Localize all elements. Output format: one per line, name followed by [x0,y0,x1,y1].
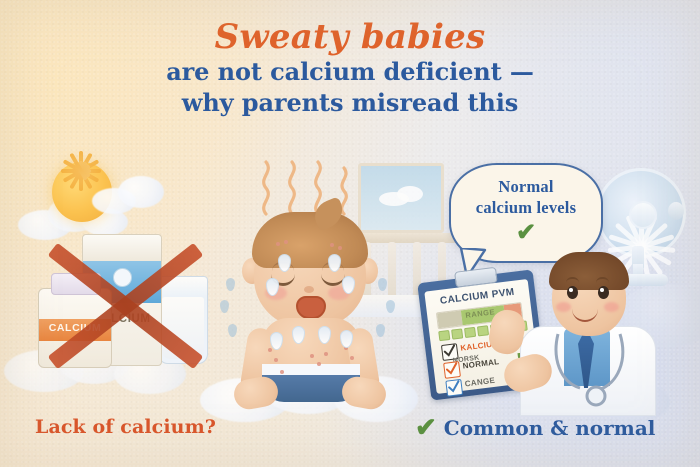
headline-line-1: Sweaty babies [0,18,700,56]
stethoscope-icon [546,332,638,410]
fan-knob [668,202,684,220]
headline-block: Sweaty babies are not calcium deficient … [0,18,700,118]
doctor-eye-right [598,286,609,299]
bubble-check-icon: ✔ [451,221,601,245]
illustration-canvas: CALCIUM CALCIUM [0,0,700,467]
caption-right: ✔ Common & normal [415,415,655,441]
bubble-line-2: calcium levels [451,197,601,218]
headline-line-3: why parents misread this [0,87,700,118]
calcium-products-group: CALCIUM CALCIUM [30,228,220,383]
sweating-baby [218,196,404,411]
headline-line-2: are not calcium deficient — [0,56,700,87]
clipboard-row: NORMAL [443,363,445,379]
caption-right-label: Common & normal [444,416,656,440]
fan-hub [629,201,657,229]
clipboard-row: KALCIUM [441,345,443,361]
clipboard-row-label: CANGE [464,376,495,389]
smiling-doctor [512,246,662,411]
baby-hair [252,212,368,268]
bubble-line-1: Normal [451,176,601,197]
caption-left: Lack of calcium? [35,416,216,438]
doctor-eye-left [567,286,578,299]
baby-open-mouth [296,296,326,319]
doctor-hair [549,252,629,290]
caption-right-check-icon: ✔ [415,415,437,441]
